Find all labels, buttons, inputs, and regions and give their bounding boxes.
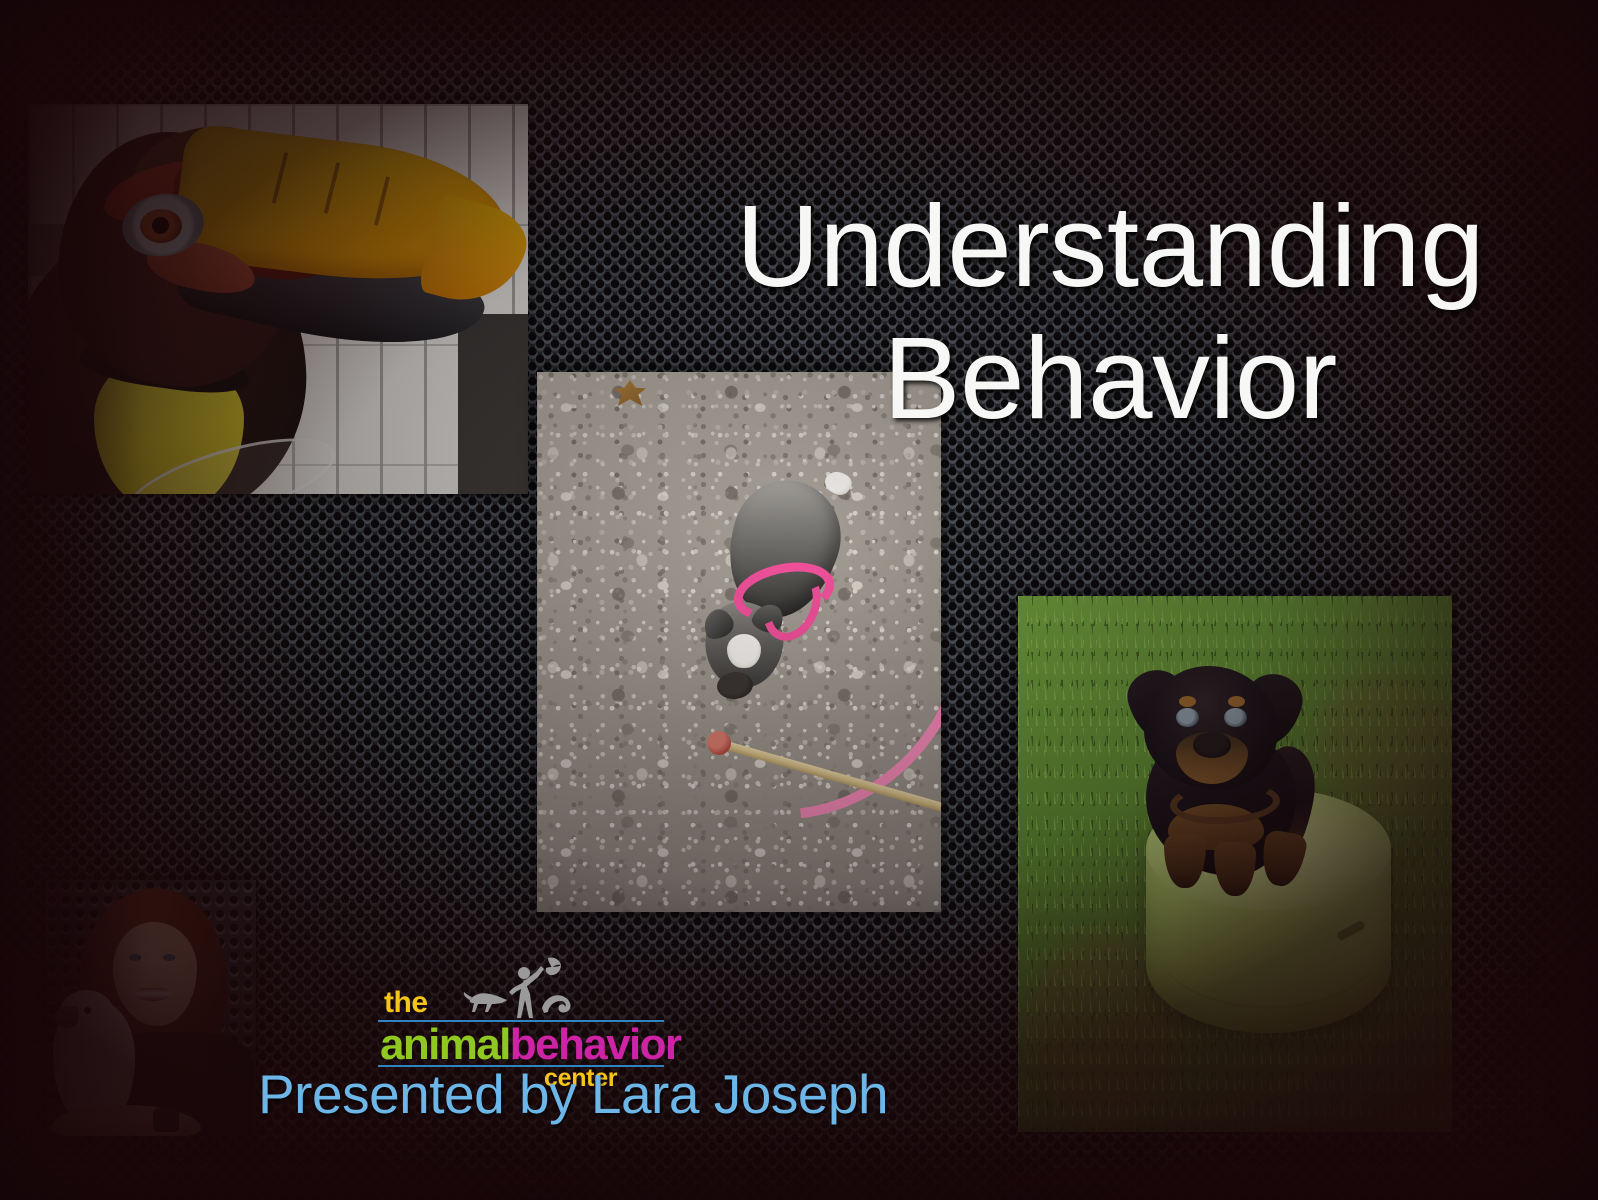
puppy-eye-left — [1176, 708, 1199, 727]
presentation-slide: Understanding Behavior — [0, 0, 1598, 1200]
page-title: Understanding Behavior — [700, 180, 1520, 444]
cockatoo-eye — [84, 1007, 91, 1014]
puppy-brow-right — [1228, 696, 1245, 707]
presenter-byline: Presented by Lara Joseph — [258, 1062, 888, 1126]
photo-mini-pig — [537, 372, 941, 912]
bird-pupil — [152, 217, 169, 234]
presenter-smile — [135, 988, 171, 1001]
cage-panel-dark — [458, 314, 528, 494]
puppy-nose — [1193, 732, 1231, 758]
photo-hornbill-aracari — [28, 104, 528, 494]
puppy-eye-right — [1224, 708, 1247, 727]
target-stick-ball — [707, 731, 731, 755]
pig-face-blaze — [727, 634, 761, 668]
photo-presenter-headshot — [45, 880, 256, 1136]
platform-ring — [1158, 886, 1379, 1009]
presenter-eye-left — [129, 954, 141, 961]
logo-artwork-icon — [462, 956, 602, 1026]
cockatoo-beak — [55, 1006, 79, 1028]
presenter-wristwatch — [153, 1108, 179, 1132]
photo-rottweiler-puppy — [1018, 596, 1452, 1132]
logo-word-the: the — [384, 986, 428, 1020]
presenter-eye-right — [163, 954, 175, 961]
puppy-brow-left — [1179, 696, 1196, 707]
